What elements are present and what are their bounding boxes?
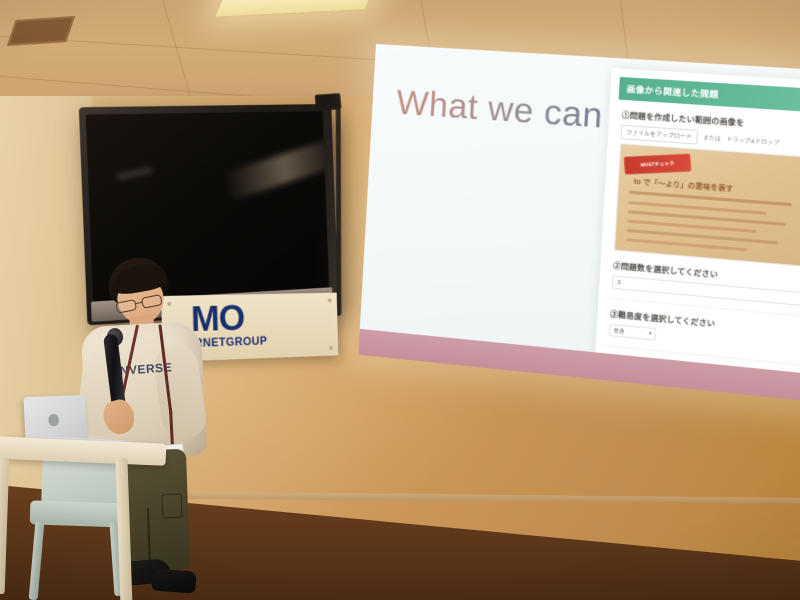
app-section-upload: ①問題を作成したい範囲の画像を ファイルをアップロード または ドラッグ&ドロッ… <box>614 109 800 268</box>
tv-glare-secondary <box>118 166 153 180</box>
thumbnail-ribbon: MUSTチェック <box>624 154 691 175</box>
apple-logo-icon <box>48 414 60 427</box>
app-screenshot-panel: 画像から関連した問題 ①問題を作成したい範囲の画像を ファイルをアップロード ま… <box>595 68 800 375</box>
sign-screw <box>329 346 333 350</box>
ceiling-vent <box>7 16 75 46</box>
glasses-bridge <box>136 302 142 304</box>
sign-screw <box>328 298 332 302</box>
upload-or-text: または <box>702 133 721 143</box>
upload-hint-text: ドラッグ&ドロップ <box>726 135 780 147</box>
app-header-banner: 画像から関連した問題 <box>619 77 800 114</box>
tv-glare <box>223 137 330 201</box>
presentation-photo: MO RNETGROUP What we can do 画像から関連した問題 ①… <box>0 0 800 600</box>
upload-file-button[interactable]: ファイルをアップロード <box>620 125 697 145</box>
tv-cable <box>336 108 342 316</box>
table-top <box>0 436 166 466</box>
table-leg <box>0 458 9 594</box>
projected-slide: What we can do 画像から関連した問題 ①問題を作成したい範囲の画像… <box>358 44 800 402</box>
slide-surface: What we can do 画像から関連した問題 ①問題を作成したい範囲の画像… <box>358 44 800 402</box>
difficulty-value: 普通 <box>613 327 624 335</box>
uploaded-image-thumbnail[interactable]: MUSTチェック to で「〜より」の意味を表す <box>614 143 800 268</box>
table-leg <box>115 458 132 600</box>
difficulty-select[interactable]: 普通 ▾ <box>609 324 656 341</box>
chevron-down-icon: ▾ <box>649 331 652 337</box>
table <box>0 440 166 600</box>
